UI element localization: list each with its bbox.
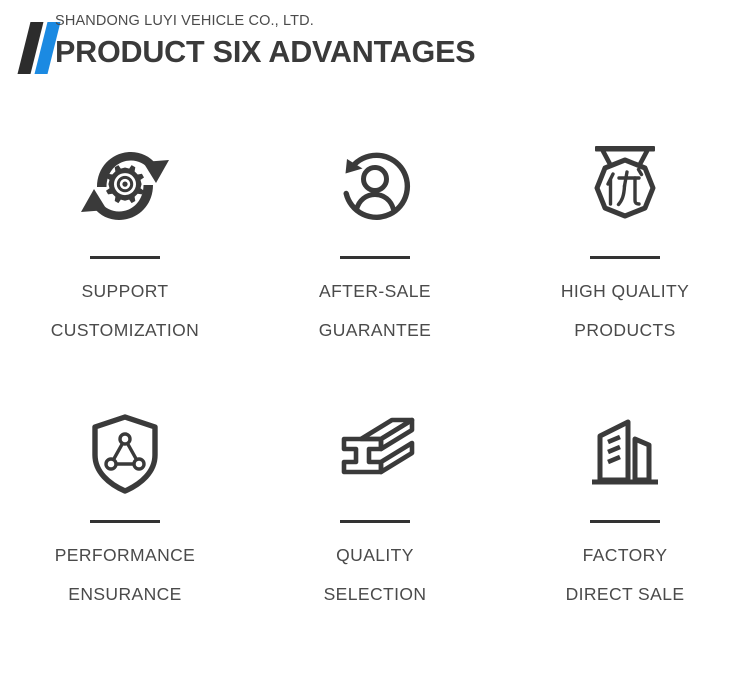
advantage-label: AFTER-SALE GUARANTEE — [319, 283, 432, 339]
advantage-label-line2: SELECTION — [324, 586, 427, 604]
card-divider — [90, 256, 160, 259]
card-divider — [340, 256, 410, 259]
card-divider — [590, 256, 660, 259]
advantage-card-performance-ensurance: PERFORMANCE ENSURANCE — [0, 404, 250, 676]
advantage-label: HIGH QUALITY PRODUCTS — [561, 283, 689, 339]
i-beam-steel-icon — [333, 404, 417, 504]
advantage-card-high-quality-products: HIGH QUALITY PRODUCTS — [500, 132, 750, 404]
advantage-card-support-customization: SUPPORT CUSTOMIZATION — [0, 132, 250, 404]
cycle-arrows-gear-icon — [79, 132, 171, 240]
advantage-card-quality-selection: QUALITY SELECTION — [250, 404, 500, 676]
card-divider — [340, 520, 410, 523]
advantage-label-line1: PERFORMANCE — [55, 545, 196, 565]
advantages-grid: SUPPORT CUSTOMIZATION AFTER-SALE GUARANT… — [0, 132, 750, 676]
factory-building-icon — [587, 404, 663, 504]
advantage-label-line2: DIRECT SALE — [566, 586, 685, 604]
header-text-block: SHANDONG LUYI VEHICLE CO., LTD. PRODUCT … — [55, 14, 475, 68]
advantage-label-line1: AFTER-SALE — [319, 281, 431, 301]
advantage-label-line2: PRODUCTS — [561, 322, 689, 340]
card-divider — [590, 520, 660, 523]
page-title: PRODUCT SIX ADVANTAGES — [55, 36, 475, 69]
advantage-label-line2: GUARANTEE — [319, 322, 432, 340]
advantage-card-factory-direct-sale: FACTORY DIRECT SALE — [500, 404, 750, 676]
page-header: SHANDONG LUYI VEHICLE CO., LTD. PRODUCT … — [0, 0, 750, 100]
advantage-label: SUPPORT CUSTOMIZATION — [51, 283, 199, 339]
advantage-label: QUALITY SELECTION — [324, 547, 427, 603]
company-name: SHANDONG LUYI VEHICLE CO., LTD. — [55, 14, 475, 29]
user-circle-arrow-icon — [332, 132, 418, 240]
card-divider — [90, 520, 160, 523]
advantage-label-line1: SUPPORT — [81, 281, 168, 301]
medal-you-badge-icon — [583, 132, 667, 240]
advantage-label-line1: QUALITY — [336, 545, 414, 565]
advantage-label-line2: CUSTOMIZATION — [51, 322, 199, 340]
advantage-label: FACTORY DIRECT SALE — [566, 547, 685, 603]
advantage-label-line1: HIGH QUALITY — [561, 281, 689, 301]
advantage-label-line1: FACTORY — [583, 545, 668, 565]
advantage-label: PERFORMANCE ENSURANCE — [55, 547, 196, 603]
shield-network-icon — [87, 404, 163, 504]
advantage-label-line2: ENSURANCE — [55, 586, 196, 604]
advantage-card-after-sale-guarantee: AFTER-SALE GUARANTEE — [250, 132, 500, 404]
